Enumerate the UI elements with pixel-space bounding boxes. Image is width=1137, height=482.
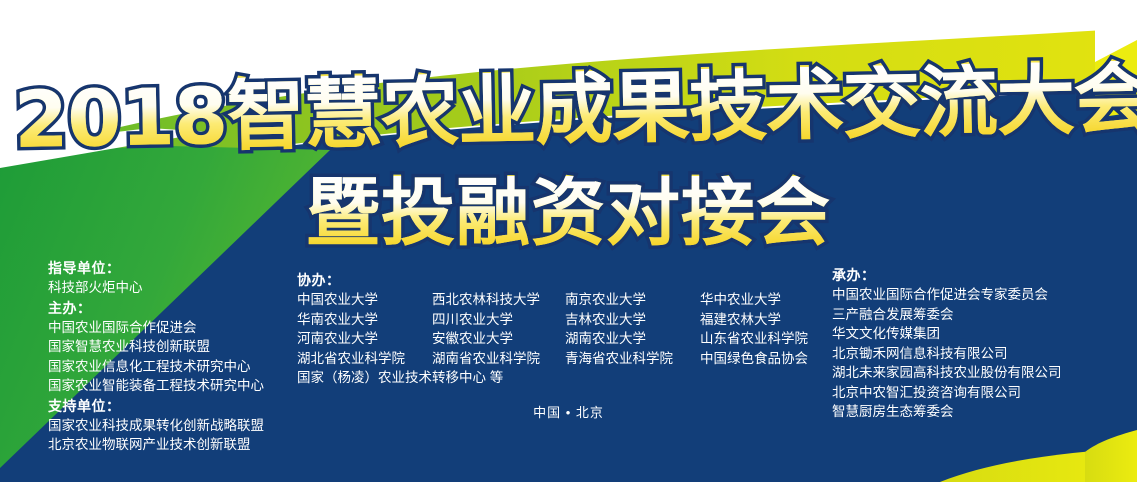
credits-item: 国家农业信息化工程技术研究中心	[48, 357, 264, 377]
credits-column-left: 指导单位： 科技部火炬中心 主办： 中国农业国际合作促进会 国家智慧农业科技创新…	[48, 258, 264, 455]
credits-item: 北京农业物联网产业技术创新联盟	[48, 435, 264, 455]
conference-banner: 2018智慧农业成果技术交流大会 2018智慧农业成果技术交流大会 暨投融资对接…	[0, 0, 1137, 482]
credits-item: 河南农业大学	[297, 329, 432, 349]
credits-item: 南京农业大学	[565, 290, 700, 310]
credits-item: 国家农业智能装备工程技术研究中心	[48, 376, 264, 396]
credits-item: 西北农林科技大学	[432, 290, 565, 310]
credits-heading-co-organizer: 协办：	[297, 270, 808, 290]
credits-item: 山东省农业科学院	[700, 329, 808, 349]
credits-item: 湖南省农业科学院	[432, 349, 565, 369]
credits-row: 河南农业大学 安徽农业大学 湖南农业大学 山东省农业科学院	[297, 329, 808, 349]
credits-item: 安徽农业大学	[432, 329, 565, 349]
credits-item: 国家智慧农业科技创新联盟	[48, 337, 264, 357]
credits-item: 科技部火炬中心	[48, 278, 264, 298]
credits-item: 湖北省农业科学院	[297, 349, 432, 369]
credits-row: 华南农业大学 四川农业大学 吉林农业大学 福建农林大学	[297, 310, 808, 330]
credits-row: 湖北省农业科学院 湖南省农业科学院 青海省农业科学院 中国绿色食品协会	[297, 349, 808, 369]
credits-item: 中国绿色食品协会	[700, 349, 808, 369]
credits-item: 北京锄禾网信息科技有限公司	[832, 344, 1062, 364]
credits-item: 国家（杨凌）农业技术转移中心 等	[297, 368, 503, 388]
credits-item: 福建农林大学	[700, 310, 781, 330]
credits-item: 华南农业大学	[297, 310, 432, 330]
credits-heading-host: 承办：	[832, 265, 1062, 285]
credits-row: 中国农业大学 西北农林科技大学 南京农业大学 华中农业大学	[297, 290, 808, 310]
credits-item: 青海省农业科学院	[565, 349, 700, 369]
credits-item: 华文文化传媒集团	[832, 324, 1062, 344]
credits-item: 中国农业国际合作促进会专家委员会	[832, 285, 1062, 305]
credits-item: 湖北未来家园高科技农业股份有限公司	[832, 363, 1062, 383]
credits-item: 北京中农智汇投资咨询有限公司	[832, 383, 1062, 403]
credits-item: 华中农业大学	[700, 290, 781, 310]
credits-row: 国家（杨凌）农业技术转移中心 等	[297, 368, 808, 388]
event-location: 中国 • 北京	[0, 404, 1137, 422]
credits-heading-organizer: 主办：	[48, 298, 264, 318]
credits-heading-guidance: 指导单位：	[48, 258, 264, 278]
credits-item: 三产融合发展筹委会	[832, 305, 1062, 325]
credits-item: 湖南农业大学	[565, 329, 700, 349]
credits-item: 四川农业大学	[432, 310, 565, 330]
credits-item: 中国农业大学	[297, 290, 432, 310]
credits-item: 中国农业国际合作促进会	[48, 318, 264, 338]
credits-column-middle: 协办： 中国农业大学 西北农林科技大学 南京农业大学 华中农业大学 华南农业大学…	[297, 270, 808, 388]
credits-item: 吉林农业大学	[565, 310, 700, 330]
credits-column-right: 承办： 中国农业国际合作促进会专家委员会 三产融合发展筹委会 华文文化传媒集团 …	[832, 265, 1062, 422]
